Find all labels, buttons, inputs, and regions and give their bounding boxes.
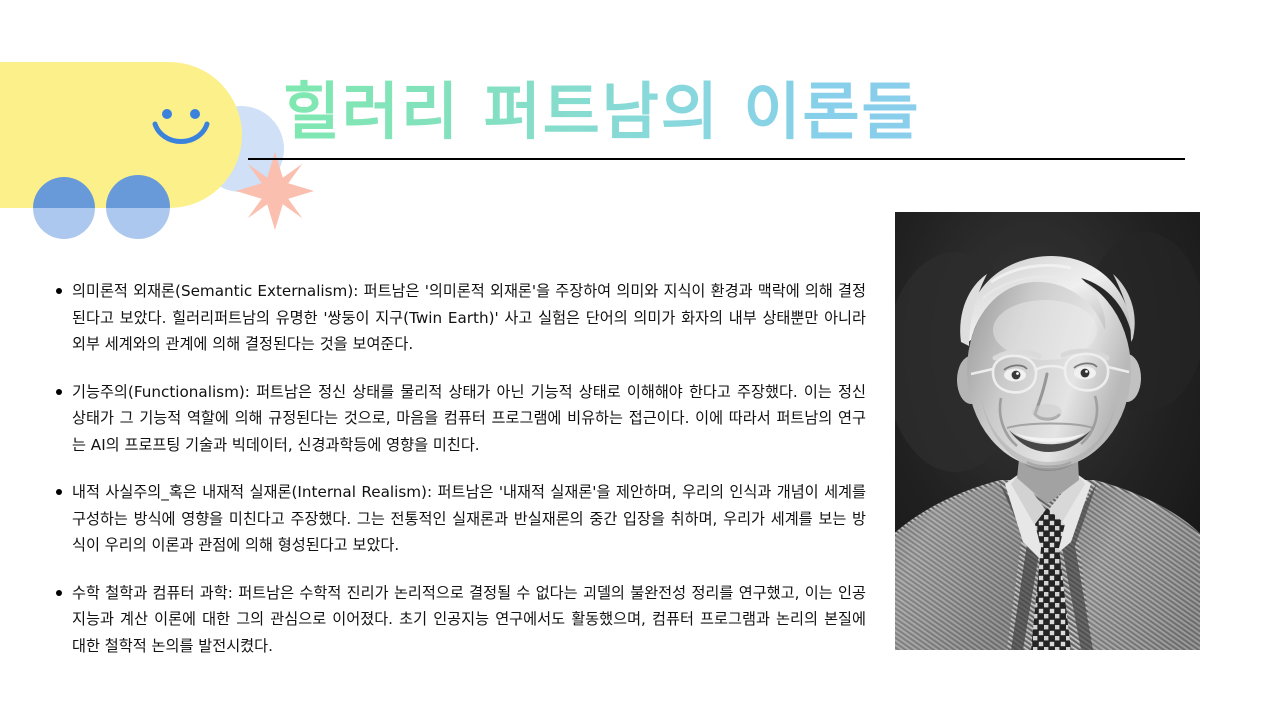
- blue-circle-shape-right: [106, 175, 170, 239]
- title-underline-rule: [248, 158, 1185, 160]
- list-item: 수학 철학과 컴퓨터 과학: 퍼트남은 수학적 진리가 논리적으로 결정될 수 …: [56, 580, 866, 660]
- list-item-text: 내적 사실주의_혹은 내재적 실재론(Internal Realism): 퍼트…: [72, 479, 866, 559]
- list-item: 내적 사실주의_혹은 내재적 실재론(Internal Realism): 퍼트…: [56, 479, 866, 559]
- portrait-photo: [895, 212, 1200, 650]
- list-item-text: 수학 철학과 컴퓨터 과학: 퍼트남은 수학적 진리가 논리적으로 결정될 수 …: [72, 580, 866, 660]
- bullet-marker-icon: [56, 488, 72, 495]
- bullet-marker-icon: [56, 388, 72, 395]
- theory-bullet-list: 의미론적 외재론(Semantic Externalism): 퍼트남은 '의미…: [56, 278, 866, 659]
- yellow-rounded-blob-shape: [0, 62, 242, 208]
- circle-fade-overlay: [0, 208, 250, 254]
- bullet-marker-icon: [56, 589, 72, 596]
- eight-point-star-icon: [236, 152, 314, 230]
- smiley-face-icon: [150, 104, 212, 154]
- slide-canvas: 힐러리 퍼트남의 이론들 의미론적 외재론(Semantic Externali…: [0, 0, 1280, 720]
- blue-circle-shape-left: [33, 177, 95, 239]
- list-item: 기능주의(Functionalism): 퍼트남은 정신 상태를 물리적 상태가…: [56, 379, 866, 459]
- bullet-marker-icon: [56, 287, 72, 294]
- page-title: 힐러리 퍼트남의 이론들: [283, 70, 983, 154]
- light-blue-circle-shape: [198, 106, 284, 192]
- list-item-text: 의미론적 외재론(Semantic Externalism): 퍼트남은 '의미…: [72, 278, 866, 358]
- list-item-text: 기능주의(Functionalism): 퍼트남은 정신 상태를 물리적 상태가…: [72, 379, 866, 459]
- list-item: 의미론적 외재론(Semantic Externalism): 퍼트남은 '의미…: [56, 278, 866, 358]
